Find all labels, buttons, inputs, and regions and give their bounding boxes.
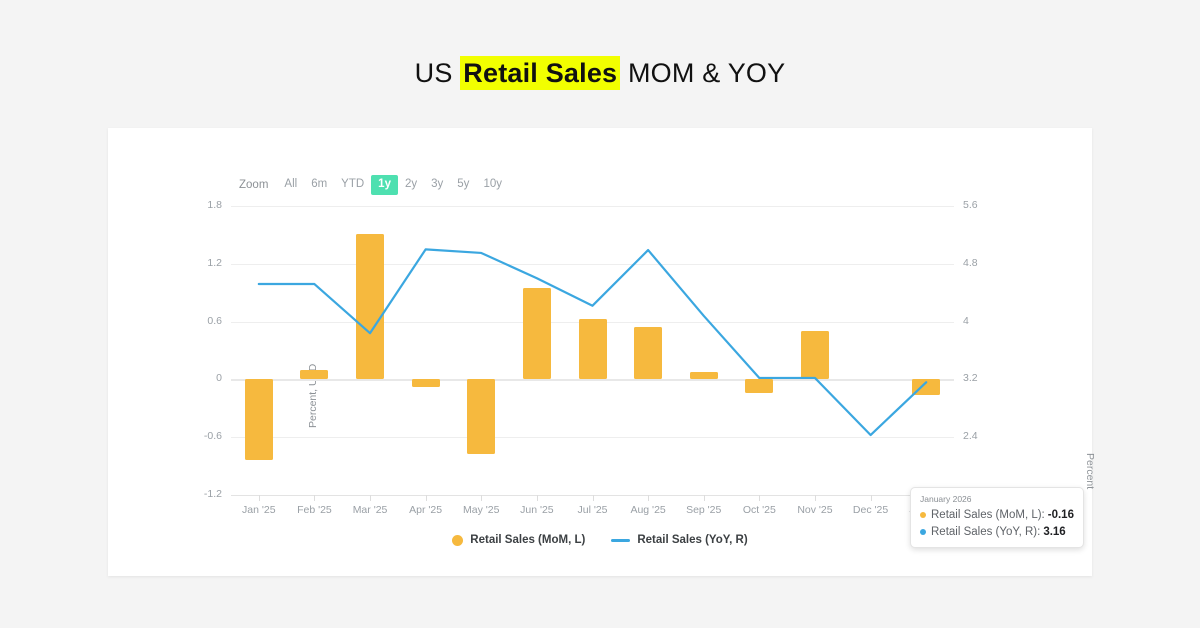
chart-legend: Retail Sales (MoM, L) Retail Sales (YoY,… — [108, 534, 1092, 546]
bar-jan25[interactable] — [245, 379, 273, 460]
y-axis-right-tick: 4.8 — [963, 257, 978, 269]
tooltip-value-mom: -0.16 — [1048, 507, 1074, 524]
x-axis-tickmark — [593, 495, 594, 501]
y-axis-left-tick: 1.8 — [207, 199, 222, 211]
zoom-option-ytd[interactable]: YTD — [334, 175, 371, 195]
x-axis-tickmark — [537, 495, 538, 501]
bar-jul25[interactable] — [579, 319, 607, 380]
page-title: US Retail Sales MOM & YOY — [0, 58, 1200, 89]
y-axis-left-tick: 0 — [216, 372, 222, 384]
zoom-label: Zoom — [239, 179, 268, 191]
legend-line-yoy-icon — [611, 539, 630, 542]
bar-oct25[interactable] — [745, 379, 773, 392]
x-axis-tickmark — [648, 495, 649, 501]
x-axis-tick-label: Oct '25 — [743, 504, 776, 516]
y-axis-right-tick: 4 — [963, 315, 969, 327]
chart-page: US Retail Sales MOM & YOY Zoom All 6m YT… — [0, 0, 1200, 628]
x-axis-tick-label: Nov '25 — [797, 504, 832, 516]
x-axis-tickmark — [871, 495, 872, 501]
x-axis-tickmark — [481, 495, 482, 501]
bar-aug25[interactable] — [634, 327, 662, 379]
gridline — [231, 206, 954, 207]
plot-area: 1.81.20.60-0.6-1.25.64.843.22.41.6 — [231, 206, 954, 495]
bar-mar25[interactable] — [356, 234, 384, 379]
x-axis-tick-label: Jun '25 — [520, 504, 554, 516]
x-axis-tick-label: Mar '25 — [353, 504, 388, 516]
legend-item-yoy[interactable]: Retail Sales (YoY, R) — [611, 534, 747, 546]
gridline — [231, 437, 954, 438]
y-axis-left-tick: 1.2 — [207, 257, 222, 269]
zoom-option-3y[interactable]: 3y — [424, 175, 450, 195]
x-axis-tickmark — [704, 495, 705, 501]
title-highlight: Retail Sales — [460, 56, 620, 90]
zoom-option-6m[interactable]: 6m — [304, 175, 334, 195]
bar-sep25[interactable] — [690, 372, 718, 380]
x-axis-tick-label: Jan '25 — [242, 504, 276, 516]
zoom-option-1y[interactable]: 1y — [371, 175, 398, 195]
zoom-range-selector: Zoom All 6m YTD 1y 2y 3y 5y 10y — [239, 175, 509, 195]
legend-label-mom: Retail Sales (MoM, L) — [470, 534, 585, 546]
title-suffix: MOM & YOY — [620, 58, 785, 88]
zoom-option-10y[interactable]: 10y — [476, 175, 509, 195]
x-axis-tickmark — [815, 495, 816, 501]
x-axis-tick-label: Jul '25 — [577, 504, 607, 516]
x-axis-tick-label: Apr '25 — [409, 504, 442, 516]
legend-dot-mom-icon — [452, 535, 463, 546]
x-axis-tick-label: Feb '25 — [297, 504, 332, 516]
y-axis-right-tick: 2.4 — [963, 430, 978, 442]
x-axis-tickmark — [759, 495, 760, 501]
legend-item-mom[interactable]: Retail Sales (MoM, L) — [452, 534, 585, 546]
x-axis-tickmark — [426, 495, 427, 501]
bar-may25[interactable] — [467, 379, 495, 453]
tooltip-title: January 2026 — [920, 494, 1074, 504]
y-axis-right-tick: 3.2 — [963, 372, 978, 384]
tooltip-label-mom: Retail Sales (MoM, L): — [931, 507, 1045, 524]
y-axis-right-title: Percent — [1084, 453, 1096, 489]
gridline — [231, 264, 954, 265]
y-axis-left-tick: 0.6 — [207, 315, 222, 327]
gridline — [231, 379, 954, 381]
bar-nov25[interactable] — [801, 331, 829, 379]
x-axis-tick-label: Sep '25 — [686, 504, 721, 516]
x-axis-tickmark — [370, 495, 371, 501]
x-axis-tick-label: Dec '25 — [853, 504, 888, 516]
legend-label-yoy: Retail Sales (YoY, R) — [637, 534, 747, 546]
x-axis-tick-label: Aug '25 — [630, 504, 665, 516]
x-axis-tickmark — [314, 495, 315, 501]
x-axis-tickmark — [259, 495, 260, 501]
tooltip-dot-mom-icon — [920, 512, 926, 518]
y-axis-left-tick: -0.6 — [204, 430, 222, 442]
bar-apr25[interactable] — [412, 379, 440, 387]
zoom-option-all[interactable]: All — [277, 175, 304, 195]
chart-card: Zoom All 6m YTD 1y 2y 3y 5y 10y Percent,… — [108, 128, 1092, 576]
title-prefix: US — [415, 58, 461, 88]
zoom-option-2y[interactable]: 2y — [398, 175, 424, 195]
bar-jan26[interactable] — [912, 379, 940, 394]
x-axis-tick-label: May '25 — [463, 504, 499, 516]
tooltip-row-mom: Retail Sales (MoM, L): -0.16 — [920, 507, 1074, 524]
y-axis-right-tick: 5.6 — [963, 199, 978, 211]
zoom-option-5y[interactable]: 5y — [450, 175, 476, 195]
bar-feb25[interactable] — [300, 370, 328, 380]
y-axis-left-tick: -1.2 — [204, 488, 222, 500]
bar-jun25[interactable] — [523, 288, 551, 380]
